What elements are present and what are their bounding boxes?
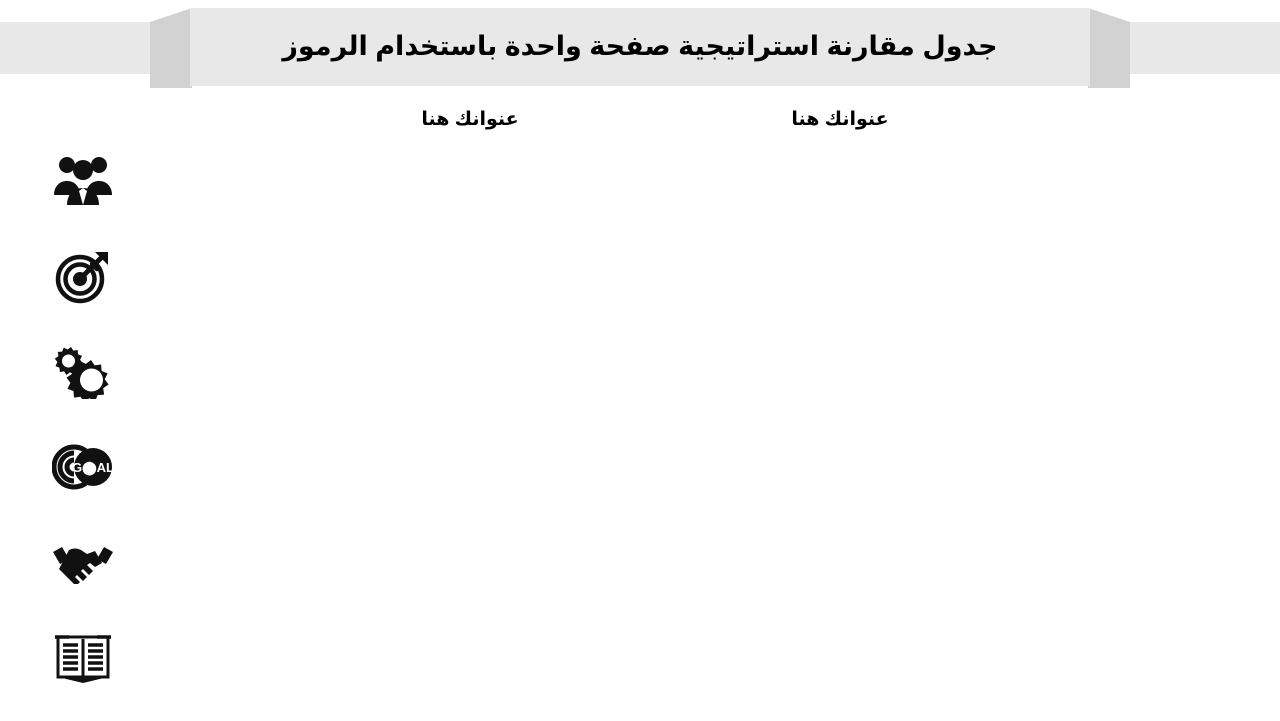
handshake-icon (51, 540, 115, 584)
team-icon (52, 153, 114, 207)
page-title: جدول مقارنة استراتيجية صفحة واحدة باستخد… (272, 30, 1007, 64)
gears-icon (53, 343, 113, 399)
table-row[interactable]: نصك هناهذه الشريحة قابلة للتعديل بنسبة 1… (0, 331, 1280, 427)
ribbon-fold-left (150, 8, 192, 88)
ribbon-tail-right (1120, 22, 1280, 74)
row-icon-cell (46, 528, 120, 596)
column-header-right: عنوانك هنا (700, 104, 980, 136)
table-row[interactable]: نصك هناهذه الشريحة قابلة للتعديل بنسبة 1… (0, 522, 1280, 618)
row-icon-cell: G⬤AL (46, 433, 120, 501)
ribbon-fold-right (1088, 8, 1130, 88)
row-icon-cell (46, 146, 120, 214)
table-row[interactable]: G⬤AL نصك هناهذه الشريحة قابلة للتعديل بن… (0, 427, 1280, 523)
table-row[interactable]: نصك هناهذه الشريحة قابلة للتعديل بنسبة 1… (0, 618, 1280, 714)
ribbon-tail-left (0, 22, 160, 74)
row-icon-cell (46, 624, 120, 692)
row-icon-cell (46, 242, 120, 310)
comparison-rows: نصك هناهذه الشريحة قابلة للتعديل بنسبة 1… (0, 140, 1280, 720)
goal-badge-icon: G⬤AL (52, 444, 114, 490)
target-dart-icon (54, 248, 112, 304)
table-row[interactable]: نصك هناهذه الشريحة قابلة للتعديل بنسبة 1… (0, 236, 1280, 332)
svg-text:G⬤AL: G⬤AL (72, 460, 114, 476)
table-row[interactable]: نصك هناهذه الشريحة قابلة للتعديل بنسبة 1… (0, 140, 1280, 236)
row-icon-cell (46, 337, 120, 405)
ribbon-banner: جدول مقارنة استراتيجية صفحة واحدة باستخد… (190, 8, 1090, 86)
title-ribbon: جدول مقارنة استراتيجية صفحة واحدة باستخد… (0, 0, 1280, 92)
column-header-left: عنوانك هنا (330, 104, 610, 136)
open-book-icon (53, 630, 113, 686)
